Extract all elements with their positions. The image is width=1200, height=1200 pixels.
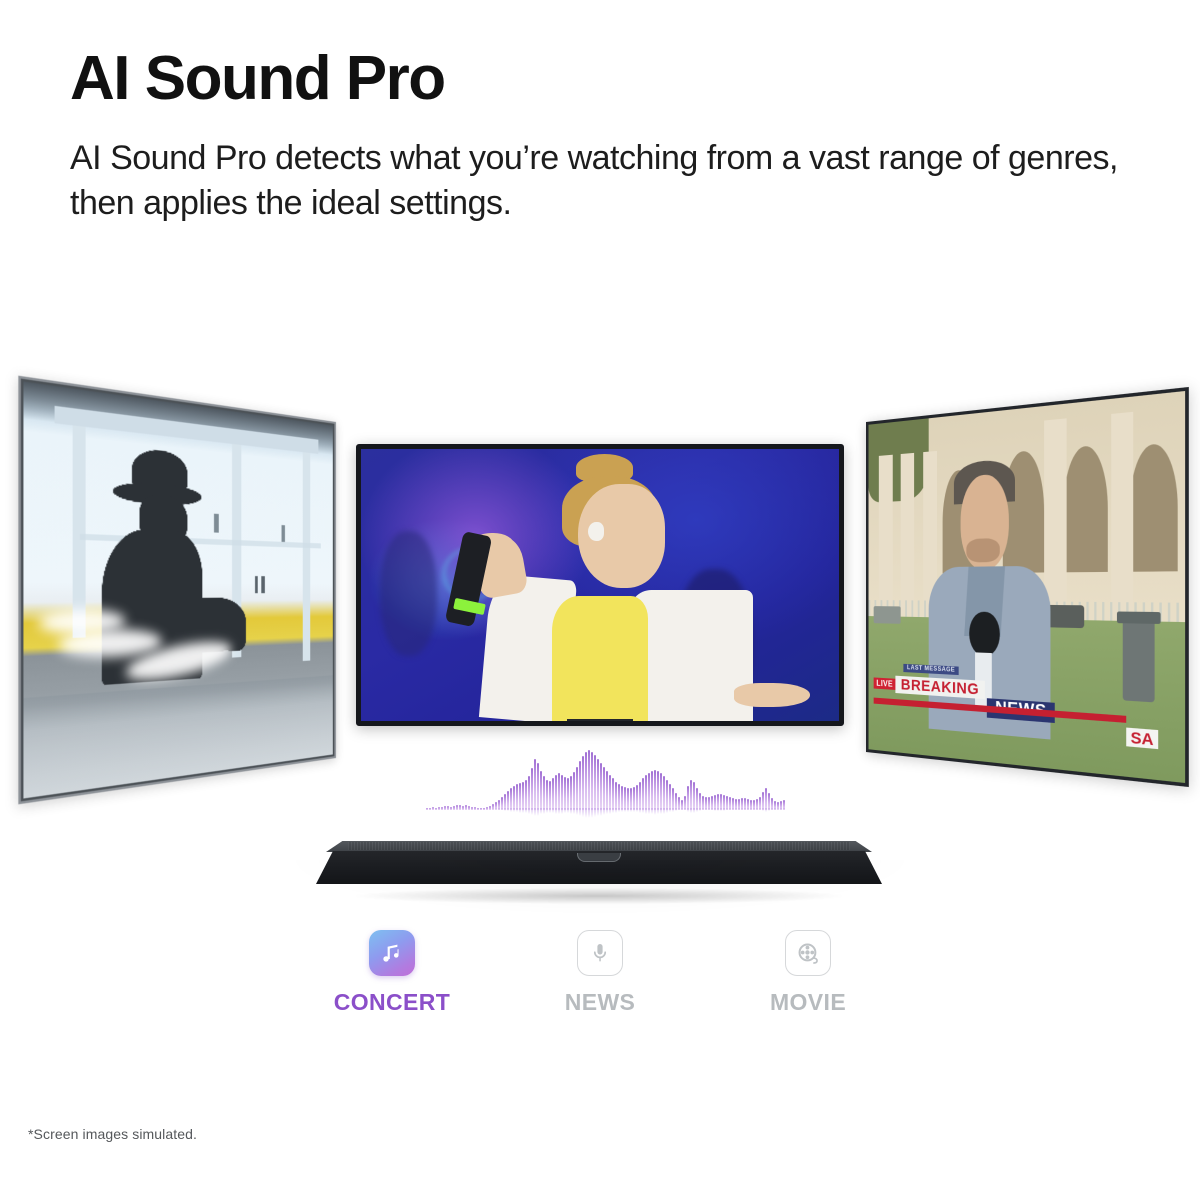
waveform-bar-reflection bbox=[654, 808, 656, 815]
soundbar-center-notch bbox=[577, 853, 621, 862]
waveform-bar-reflection bbox=[477, 808, 479, 809]
news-lower-third: LAST MESSAGE LIVE BREAKING NEWS SA bbox=[869, 662, 1186, 783]
waveform-bar bbox=[537, 763, 539, 810]
building-arch-4 bbox=[1129, 443, 1177, 572]
waveform-bar-reflection bbox=[447, 808, 449, 809]
news-tree bbox=[869, 418, 929, 502]
waveform-bar-reflection bbox=[543, 808, 545, 814]
waveform-bar-reflection bbox=[756, 808, 758, 810]
waveform-bar bbox=[615, 782, 617, 810]
waveform-bar bbox=[606, 771, 608, 810]
waveform-bar-reflection bbox=[765, 808, 767, 812]
waveform-bar-reflection bbox=[588, 808, 590, 818]
waveform-bar-reflection bbox=[771, 808, 773, 810]
waveform-bar bbox=[567, 778, 569, 810]
waveform-bar-reflection bbox=[615, 808, 617, 813]
footnote-disclaimer: *Screen images simulated. bbox=[28, 1126, 197, 1142]
waveform-bar-reflection bbox=[744, 808, 746, 810]
waveform-bar-reflection bbox=[609, 808, 611, 814]
concert-tv-screen bbox=[361, 449, 839, 721]
window-mullion-right bbox=[303, 438, 311, 661]
waveform-bar-reflection bbox=[699, 808, 701, 811]
waveform-bar-reflection bbox=[474, 808, 476, 809]
waveform-bar-reflection bbox=[747, 808, 749, 810]
waveform-bar bbox=[594, 755, 596, 810]
movie-scene-lower-haze bbox=[23, 675, 332, 798]
waveform-bar bbox=[597, 759, 599, 810]
waveform-bar-reflection bbox=[666, 808, 668, 813]
waveform-bar bbox=[528, 776, 530, 810]
waveform-bar bbox=[690, 780, 692, 811]
waveform-bar-reflection bbox=[606, 808, 608, 814]
reporter-beard bbox=[966, 538, 999, 563]
soundbar-device bbox=[316, 841, 882, 889]
header-block: AI Sound Pro AI Sound Pro detects what y… bbox=[70, 48, 1170, 226]
waveform-bar bbox=[651, 771, 653, 810]
waveform-bar-reflection bbox=[465, 808, 467, 809]
waveform-bar-reflection bbox=[777, 808, 779, 809]
window-mullion-left bbox=[73, 413, 86, 639]
waveform-bar-reflection bbox=[522, 808, 524, 813]
waveform-bar bbox=[612, 778, 614, 810]
waveform-bar bbox=[561, 775, 563, 810]
singer-yellow-top bbox=[552, 596, 648, 721]
building-column-1 bbox=[879, 455, 892, 613]
waveform-bar-reflection bbox=[495, 808, 497, 809]
waveform-bar bbox=[564, 777, 566, 810]
waveform-bar-reflection bbox=[633, 808, 635, 812]
soundbar-shadow bbox=[356, 888, 842, 904]
waveform-bar-reflection bbox=[558, 808, 560, 814]
waveform-bar-reflection bbox=[741, 808, 743, 810]
waveform-bar bbox=[633, 787, 635, 810]
waveform-bar-reflection bbox=[507, 808, 509, 811]
waveform-bar bbox=[573, 772, 575, 810]
waveform-bar-reflection bbox=[711, 808, 713, 810]
news-breaking-label: BREAKING bbox=[896, 675, 986, 698]
waveform-bar-reflection bbox=[702, 808, 704, 810]
waveform-bar-reflection bbox=[693, 808, 695, 813]
waveform-bar-reflection bbox=[663, 808, 665, 814]
waveform-bar-reflection bbox=[720, 808, 722, 811]
waveform-bar-reflection bbox=[585, 808, 587, 818]
waveform-bar-reflection bbox=[660, 808, 662, 814]
waveform-bar bbox=[570, 776, 572, 810]
waveform-bar-reflection bbox=[639, 808, 641, 813]
waveform-bar-reflection bbox=[597, 808, 599, 816]
waveform-bar bbox=[600, 763, 602, 810]
waveform-bar-reflection bbox=[591, 808, 593, 818]
waveform-bar bbox=[582, 756, 584, 810]
waveform-bar bbox=[648, 773, 650, 810]
waveform-bar-reflection bbox=[600, 808, 602, 816]
waveform-bar bbox=[540, 771, 542, 810]
audio-waveform-reflection bbox=[390, 808, 820, 820]
waveform-bar-reflection bbox=[630, 808, 632, 812]
news-tv: LAST MESSAGE LIVE BREAKING NEWS SA bbox=[866, 422, 1180, 752]
waveform-bar-reflection bbox=[531, 808, 533, 815]
scene-figure-far-2 bbox=[262, 576, 265, 593]
waveform-bar-reflection bbox=[672, 808, 674, 812]
waveform-bar-reflection bbox=[753, 808, 755, 810]
waveform-bar-reflection bbox=[717, 808, 719, 811]
waveform-bar bbox=[516, 784, 518, 810]
mode-movie[interactable]: MOVIE bbox=[743, 930, 873, 1016]
concert-tv-stand bbox=[567, 719, 633, 726]
mode-concert[interactable]: CONCERT bbox=[327, 930, 457, 1016]
waveform-bar-reflection bbox=[576, 808, 578, 815]
waveform-bar bbox=[696, 788, 698, 810]
film-reel-icon[interactable] bbox=[785, 930, 831, 976]
waveform-bar-reflection bbox=[618, 808, 620, 812]
waveform-bar-reflection bbox=[759, 808, 761, 810]
waveform-bar bbox=[639, 782, 641, 810]
waveform-bar-reflection bbox=[552, 808, 554, 813]
page-title: AI Sound Pro bbox=[70, 48, 1170, 110]
building-pilaster-mid bbox=[1044, 418, 1067, 616]
mode-news-label: NEWS bbox=[535, 989, 665, 1016]
mode-news[interactable]: NEWS bbox=[535, 930, 665, 1016]
waveform-bar-reflection bbox=[621, 808, 623, 812]
waveform-bar-reflection bbox=[468, 808, 470, 809]
news-station-badge: SA bbox=[1126, 727, 1159, 749]
waveform-bar bbox=[693, 782, 695, 810]
waveform-bar bbox=[591, 752, 593, 810]
waveform-bar-reflection bbox=[738, 808, 740, 810]
waveform-bar-reflection bbox=[708, 808, 710, 810]
waveform-bar-reflection bbox=[516, 808, 518, 812]
page-subtitle: AI Sound Pro detects what you’re watchin… bbox=[70, 136, 1160, 226]
waveform-bar-reflection bbox=[732, 808, 734, 810]
waveform-bar bbox=[627, 788, 629, 810]
waveform-bar-reflection bbox=[624, 808, 626, 812]
movie-tv bbox=[20, 422, 336, 758]
waveform-bar-reflection bbox=[612, 808, 614, 813]
waveform-bar bbox=[618, 784, 620, 810]
waveform-bar-reflection bbox=[459, 808, 461, 809]
building-arch-3 bbox=[1064, 444, 1108, 572]
movie-tv-screen bbox=[23, 382, 332, 799]
waveform-bar-reflection bbox=[573, 808, 575, 814]
waveform-bar-reflection bbox=[567, 808, 569, 813]
waveform-bar bbox=[621, 786, 623, 810]
concert-tv bbox=[356, 444, 844, 726]
waveform-bar-reflection bbox=[657, 808, 659, 814]
waveform-bar-reflection bbox=[453, 808, 455, 809]
waveform-bar-reflection bbox=[579, 808, 581, 816]
waveform-bar bbox=[645, 775, 647, 810]
waveform-bar bbox=[687, 786, 689, 810]
scene-figure-far-1 bbox=[255, 576, 258, 594]
waveform-bar bbox=[549, 781, 551, 810]
waveform-bar bbox=[585, 752, 587, 810]
building-column-2 bbox=[901, 453, 915, 613]
scene-post-1 bbox=[214, 514, 218, 532]
waveform-bar-reflection bbox=[462, 808, 464, 809]
news-bin-lid bbox=[1117, 612, 1161, 624]
waveform-bar-reflection bbox=[450, 808, 452, 809]
waveform-bar-reflection bbox=[627, 808, 629, 812]
waveform-bar bbox=[603, 767, 605, 810]
waveform-bar bbox=[555, 775, 557, 810]
waveform-bar-reflection bbox=[471, 808, 473, 809]
waveform-bar-reflection bbox=[684, 808, 686, 810]
waveform-bar-reflection bbox=[582, 808, 584, 817]
waveform-bar-reflection bbox=[729, 808, 731, 810]
waveform-bar-reflection bbox=[483, 808, 485, 809]
mode-movie-label: MOVIE bbox=[743, 989, 873, 1016]
waveform-bar bbox=[657, 771, 659, 810]
waveform-bar-reflection bbox=[780, 808, 782, 810]
waveform-bar-reflection bbox=[564, 808, 566, 813]
waveform-bar-reflection bbox=[525, 808, 527, 813]
waveform-bar-reflection bbox=[441, 808, 443, 809]
waveform-bar-reflection bbox=[603, 808, 605, 815]
waveform-bar-reflection bbox=[648, 808, 650, 814]
soundbar-grille bbox=[348, 842, 850, 850]
news-parked-car bbox=[874, 607, 901, 624]
waveform-bar-reflection bbox=[480, 808, 482, 809]
waveform-bar bbox=[558, 773, 560, 810]
waveform-bar-reflection bbox=[537, 808, 539, 816]
waveform-bar-reflection bbox=[429, 808, 431, 809]
mic-head bbox=[969, 611, 1000, 657]
waveform-bar bbox=[513, 786, 515, 810]
waveform-bar bbox=[669, 784, 671, 810]
waveform-bar-reflection bbox=[546, 808, 548, 813]
waveform-bar-reflection bbox=[750, 808, 752, 810]
waveform-bar-reflection bbox=[528, 808, 530, 814]
waveform-bar bbox=[642, 778, 644, 810]
movie-tv-panel bbox=[18, 376, 336, 805]
waveform-bar-reflection bbox=[504, 808, 506, 811]
waveform-bar-reflection bbox=[570, 808, 572, 814]
waveform-bar bbox=[522, 782, 524, 810]
waveform-bar bbox=[510, 788, 512, 810]
waveform-bar bbox=[609, 775, 611, 810]
waveform-bar bbox=[525, 780, 527, 811]
waveform-bar-reflection bbox=[723, 808, 725, 811]
waveform-bar-reflection bbox=[444, 808, 446, 809]
waveform-bar-reflection bbox=[456, 808, 458, 809]
waveform-bar bbox=[663, 776, 665, 810]
waveform-bar-reflection bbox=[726, 808, 728, 810]
waveform-bar bbox=[630, 788, 632, 810]
sound-mode-selector: CONCERT NEWS MOVIE bbox=[0, 930, 1200, 1016]
waveform-bar bbox=[546, 780, 548, 811]
waveform-bar bbox=[576, 767, 578, 810]
waveform-bar-reflection bbox=[768, 808, 770, 811]
waveform-bar-reflection bbox=[774, 808, 776, 810]
waveform-bar-reflection bbox=[636, 808, 638, 812]
waveform-bar bbox=[543, 776, 545, 810]
waveform-bar-reflection bbox=[705, 808, 707, 810]
waveform-bar-reflection bbox=[510, 808, 512, 812]
waveform-bar bbox=[660, 773, 662, 810]
waveform-bar-reflection bbox=[513, 808, 515, 812]
waveform-bar-reflection bbox=[492, 808, 494, 809]
waveform-bar-reflection bbox=[534, 808, 536, 816]
waveform-bar bbox=[765, 788, 767, 810]
waveform-bar bbox=[531, 768, 533, 810]
waveform-bar-reflection bbox=[501, 808, 503, 810]
waveform-bar-reflection bbox=[438, 808, 440, 809]
waveform-bar bbox=[654, 770, 656, 810]
waveform-bar-reflection bbox=[687, 808, 689, 812]
waveform-bar-reflection bbox=[489, 808, 491, 809]
waveform-bar bbox=[552, 778, 554, 810]
news-tv-panel: LAST MESSAGE LIVE BREAKING NEWS SA bbox=[866, 387, 1189, 787]
news-live-badge: LIVE bbox=[874, 677, 896, 689]
waveform-bar-reflection bbox=[714, 808, 716, 811]
news-tv-screen: LAST MESSAGE LIVE BREAKING NEWS SA bbox=[869, 391, 1186, 783]
waveform-bar bbox=[519, 783, 521, 810]
waveform-bar-reflection bbox=[498, 808, 500, 810]
waveform-bar-reflection bbox=[696, 808, 698, 812]
soundbar-top-surface bbox=[326, 841, 872, 852]
soundbar-front-face bbox=[316, 851, 882, 884]
waveform-bar-reflection bbox=[783, 808, 785, 810]
waveform-bar-reflection bbox=[645, 808, 647, 814]
singer-earpiece bbox=[588, 522, 604, 541]
waveform-bar-reflection bbox=[486, 808, 488, 809]
waveform-bar bbox=[672, 788, 674, 810]
building-pilaster-right bbox=[1112, 412, 1133, 618]
waveform-bar bbox=[624, 787, 626, 810]
concert-tv-panel bbox=[356, 444, 844, 726]
waveform-bar-reflection bbox=[561, 808, 563, 814]
music-note-icon[interactable] bbox=[369, 930, 415, 976]
audio-waveform bbox=[390, 748, 820, 810]
waveform-bar-reflection bbox=[549, 808, 551, 813]
waveform-bar-reflection bbox=[690, 808, 692, 813]
waveform-bar-reflection bbox=[594, 808, 596, 817]
waveform-bar-reflection bbox=[540, 808, 542, 814]
waveform-bar bbox=[636, 785, 638, 810]
microphone-icon[interactable] bbox=[577, 930, 623, 976]
news-ticker-text: LAST MESSAGE bbox=[903, 663, 958, 674]
waveform-bar bbox=[579, 761, 581, 810]
scene-post-2 bbox=[282, 525, 285, 542]
waveform-bar bbox=[588, 750, 590, 810]
waveform-bar-reflection bbox=[519, 808, 521, 813]
waveform-bar-reflection bbox=[675, 808, 677, 811]
waveform-bar-reflection bbox=[762, 808, 764, 811]
waveform-bar-reflection bbox=[435, 808, 437, 809]
waveform-bar-reflection bbox=[735, 808, 737, 810]
waveform-bar bbox=[666, 780, 668, 811]
waveform-bar-reflection bbox=[651, 808, 653, 814]
waveform-bar bbox=[534, 759, 536, 810]
waveform-bar-reflection bbox=[432, 808, 434, 809]
waveform-bar-reflection bbox=[678, 808, 680, 810]
waveform-bar-reflection bbox=[669, 808, 671, 812]
waveform-bar-reflection bbox=[426, 808, 428, 809]
waveform-bar-reflection bbox=[681, 808, 683, 810]
waveform-bar-reflection bbox=[642, 808, 644, 813]
mode-concert-label: CONCERT bbox=[327, 989, 457, 1016]
waveform-bar-reflection bbox=[555, 808, 557, 814]
stage-backup-figure-left bbox=[380, 531, 437, 656]
